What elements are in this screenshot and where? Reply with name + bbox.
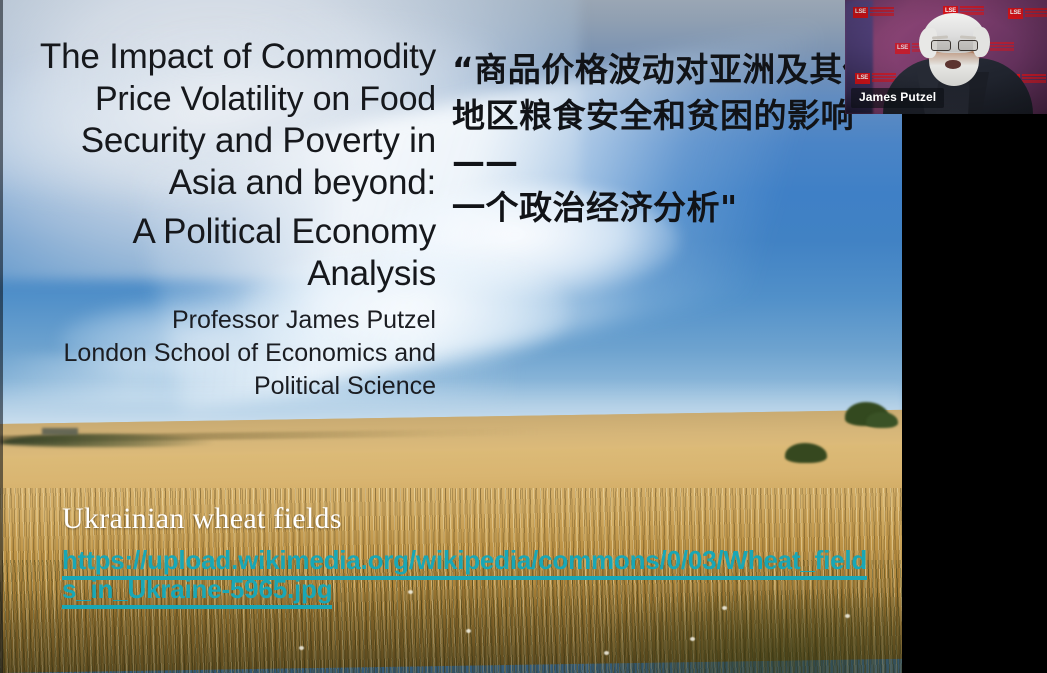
- wheat-flower: [604, 651, 609, 655]
- slide-title-line: The Impact of Commodity: [18, 36, 436, 78]
- chinese-title-line: 地区粮食安全和贫困的影响: [452, 93, 902, 139]
- glasses-icon: [931, 40, 978, 49]
- image-credit-link[interactable]: https://upload.wikimedia.org/wikipedia/c…: [62, 546, 877, 604]
- chinese-title-line: “商品价格波动对亚洲及其他: [452, 47, 902, 93]
- slide-subtitle-line: Analysis: [18, 253, 436, 295]
- chinese-title-dash: ——: [452, 139, 902, 185]
- lse-logo-wordmark: [1022, 74, 1046, 83]
- presenter-affiliation-line: Political Science: [18, 370, 436, 403]
- wheat-flower: [722, 606, 727, 610]
- lse-logo-icon: LSE: [855, 73, 896, 84]
- wheat-flower: [299, 646, 304, 650]
- field-bush: [785, 443, 827, 463]
- slide-subtitle-line: A Political Economy: [18, 211, 436, 253]
- lse-logo-wordmark: [870, 7, 894, 16]
- slide-title-line: Price Volatility on Food: [18, 78, 436, 120]
- image-caption: Ukrainian wheat fields: [62, 502, 342, 536]
- slide-title-chinese: “商品价格波动对亚洲及其他 地区粮食安全和贫困的影响 —— 一个政治经济分析": [452, 47, 902, 231]
- participant-name-label: James Putzel: [851, 88, 944, 108]
- presenter-name: Professor James Putzel: [18, 304, 436, 337]
- lse-logo-icon: LSE: [853, 7, 894, 18]
- lse-logo-mark: LSE: [853, 7, 868, 18]
- slide-left-edge: [0, 0, 3, 673]
- participant-mouth: [945, 60, 961, 69]
- wheat-flower: [690, 637, 695, 641]
- lse-logo-mark: LSE: [895, 43, 910, 54]
- wheat-flower: [466, 629, 471, 633]
- wheat-flower: [845, 614, 850, 618]
- shared-slide[interactable]: The Impact of Commodity Price Volatility…: [0, 0, 902, 673]
- distant-building: [42, 428, 78, 435]
- slide-title-line: Asia and beyond:: [18, 162, 436, 204]
- lse-logo-wordmark: [990, 42, 1014, 51]
- slide-title: The Impact of Commodity Price Volatility…: [18, 36, 436, 295]
- lse-logo-icon: LSE: [1008, 8, 1047, 19]
- lse-logo-mark: LSE: [855, 73, 870, 84]
- letterbox-right: [902, 114, 1047, 673]
- lse-logo-wordmark: [1025, 8, 1047, 17]
- presenter-block: Professor James Putzel London School of …: [18, 304, 436, 403]
- image-credit-link-text[interactable]: https://upload.wikimedia.org/wikipedia/c…: [62, 545, 867, 609]
- lse-logo-mark: LSE: [1008, 8, 1023, 19]
- field-bush: [866, 412, 898, 428]
- slide-title-line: Security and Poverty in: [18, 120, 436, 162]
- meeting-stage: The Impact of Commodity Price Volatility…: [0, 0, 1047, 673]
- chinese-title-line: 一个政治经济分析": [452, 185, 902, 231]
- participant-video-tile[interactable]: LSE LSE LSE LSE LSE LSE LSE LSE: [845, 0, 1047, 114]
- presenter-affiliation-line: London School of Economics and: [18, 337, 436, 370]
